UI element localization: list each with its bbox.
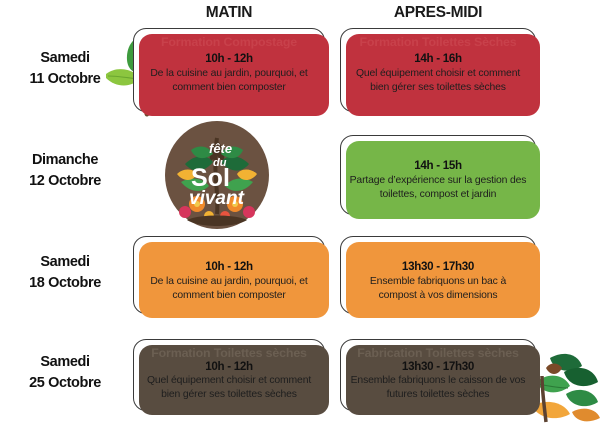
session-time: 14h - 15h	[348, 159, 528, 172]
date-date-row-4: 25 Octobre	[2, 373, 128, 394]
column-header-apres-midi: APRES-MIDI	[340, 4, 536, 22]
date-cell-row-3: Samedi 18 Octobre	[2, 252, 128, 294]
schedule-poster: MATIN APRES-MIDI Samedi 11 Octobre Forma…	[0, 0, 600, 424]
session-desc-line1: De la cuisine au jardin, pourquoi, et	[141, 67, 317, 81]
session-desc-line2: toilettes, compost et jardin	[348, 188, 528, 202]
session-desc-line2: comment bien composter	[141, 289, 317, 303]
session-title: Formation Compostage	[141, 35, 317, 49]
date-day-row-3: Samedi	[2, 252, 128, 273]
session-desc-line1: Quel équipement choisir et comment	[348, 67, 528, 81]
session-time: 10h - 12h	[141, 360, 317, 373]
column-header-matin: MATIN	[133, 4, 325, 22]
logo-line1: fête	[209, 141, 232, 156]
date-cell-row-2: Dimanche 12 Octobre	[2, 150, 128, 192]
date-cell-row-4: Samedi 25 Octobre	[2, 352, 128, 394]
session-title: Visite de toilettes et jardin	[348, 142, 528, 156]
session-card-row3-afternoon[interactable]: Fabrication composteur 13h30 - 17h30 Ens…	[340, 236, 536, 314]
session-card-row2-afternoon[interactable]: Visite de toilettes et jardin 14h - 15h …	[340, 135, 536, 215]
session-desc-line2: bien gérer ses toilettes sèches	[348, 81, 528, 95]
session-card-row4-afternoon[interactable]: Fabrication Toilettes sèches 13h30 - 17h…	[340, 339, 536, 411]
fete-du-sol-vivant-logo: fête du Sol vivant	[163, 120, 271, 230]
date-day-row-2: Dimanche	[2, 150, 128, 171]
session-desc-line2: futures toilettes sèches	[348, 388, 528, 402]
date-date-row-2: 12 Octobre	[2, 171, 128, 192]
date-day-row-4: Samedi	[2, 352, 128, 373]
session-desc-line1: Ensemble fabriquons un bac à	[348, 275, 528, 289]
session-card-row1-morning[interactable]: Formation Compostage 10h - 12h De la cui…	[133, 28, 325, 112]
session-title: Formation Compostage	[141, 243, 317, 257]
logo-line4: vivant	[189, 188, 245, 209]
session-title: Formation Toilettes sèches	[141, 346, 317, 360]
date-date-row-3: 18 Octobre	[2, 273, 128, 294]
session-desc-line1: Ensemble fabriquons le caisson de vos	[348, 374, 528, 388]
session-desc-line1: Partage d’expérience sur la gestion des	[348, 174, 528, 188]
session-time: 13h30 - 17h30	[348, 360, 528, 373]
session-card-row1-afternoon[interactable]: Formation Toilettes Sèches 14h - 16h Que…	[340, 28, 536, 112]
session-time: 13h30 - 17h30	[348, 260, 528, 273]
session-desc-line2: compost à vos dimensions	[348, 289, 528, 303]
session-desc-line2: comment bien composter	[141, 81, 317, 95]
session-card-row4-morning[interactable]: Formation Toilettes sèches 10h - 12h Que…	[133, 339, 325, 411]
session-time: 14h - 16h	[348, 52, 528, 65]
session-title: Fabrication composteur	[348, 243, 528, 257]
session-title: Fabrication Toilettes sèches	[348, 346, 528, 360]
session-desc-line1: Quel équipement choisir et comment	[141, 374, 317, 388]
session-card-row3-morning[interactable]: Formation Compostage 10h - 12h De la cui…	[133, 236, 325, 314]
session-desc-line2: bien gérer ses toilettes sèches	[141, 388, 317, 402]
session-title: Formation Toilettes Sèches	[348, 35, 528, 49]
session-time: 10h - 12h	[141, 260, 317, 273]
session-time: 10h - 12h	[141, 52, 317, 65]
session-desc-line1: De la cuisine au jardin, pourquoi, et	[141, 275, 317, 289]
